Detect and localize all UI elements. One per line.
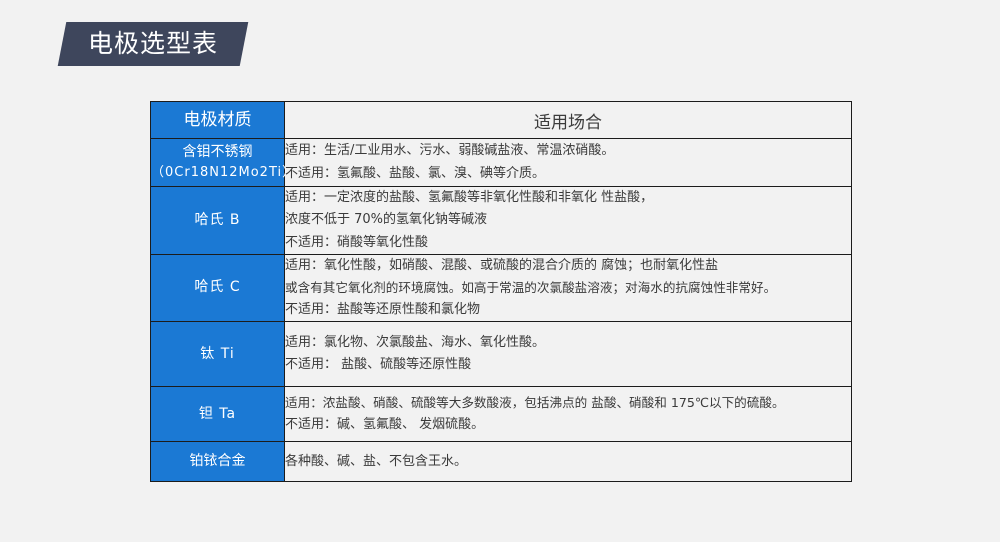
material-name: 含钼不锈钢 <box>183 144 253 160</box>
material-grade: （0Cr18N12Mo2Ti） <box>151 163 284 183</box>
application-line: 适用：浓盐酸、硝酸、硫酸等大多数酸液，包括沸点的 盐酸、硝酸和 175℃以下的硫… <box>285 392 851 414</box>
table-header-row: 电极材质 适用场合 <box>151 102 852 139</box>
material-name: 哈氏 B <box>194 212 240 228</box>
application-line: 浓度不低于 70%的氢氧化钠等碱液 <box>285 209 851 231</box>
cell-application: 适用：浓盐酸、硝酸、硫酸等大多数酸液，包括沸点的 盐酸、硝酸和 175℃以下的硫… <box>285 387 852 442</box>
table-row: 含钼不锈钢 （0Cr18N12Mo2Ti） 适用：生活/工业用水、污水、弱酸碱盐… <box>151 139 852 187</box>
application-line: 适用：一定浓度的盐酸、氢氟酸等非氧化性酸和非氧化 性盐酸， <box>285 187 851 209</box>
cell-material: 哈氏 B <box>151 187 285 255</box>
material-name: 钛 Ti <box>200 346 234 362</box>
application-line: 不适用： 盐酸、硫酸等还原性酸 <box>285 354 851 376</box>
application-line: 适用：氯化物、次氯酸盐、海水、氧化性酸。 <box>285 332 851 354</box>
application-line: 适用：氧化性酸，如硝酸、混酸、或硫酸的混合介质的 腐蚀；也耐氧化性盐 <box>285 255 851 277</box>
header-material: 电极材质 <box>151 102 285 139</box>
header-application: 适用场合 <box>285 102 852 139</box>
table-row: 铂铱合金 各种酸、碱、盐、不包含王水。 <box>151 442 852 482</box>
page-title-banner: 电极选型表 <box>62 22 244 66</box>
cell-application: 适用：生活/工业用水、污水、弱酸碱盐液、常温浓硝酸。 不适用：氢氟酸、盐酸、氯、… <box>285 139 852 187</box>
cell-material: 含钼不锈钢 （0Cr18N12Mo2Ti） <box>151 139 285 187</box>
table-row: 哈氏 C 适用：氧化性酸，如硝酸、混酸、或硫酸的混合介质的 腐蚀；也耐氧化性盐 … <box>151 255 852 322</box>
cell-application: 各种酸、碱、盐、不包含王水。 <box>285 442 852 482</box>
material-name: 铂铱合金 <box>190 453 246 469</box>
electrode-selection-table-wrap: 电极材质 适用场合 含钼不锈钢 （0Cr18N12Mo2Ti） 适用：生活/工业… <box>150 101 852 482</box>
material-name: 钽 Ta <box>199 406 236 422</box>
application-line: 不适用：氢氟酸、盐酸、氯、溴、碘等介质。 <box>285 163 851 185</box>
cell-material: 铂铱合金 <box>151 442 285 482</box>
cell-application: 适用：氯化物、次氯酸盐、海水、氧化性酸。 不适用： 盐酸、硫酸等还原性酸 <box>285 322 852 387</box>
cell-application: 适用：氧化性酸，如硝酸、混酸、或硫酸的混合介质的 腐蚀；也耐氧化性盐 或含有其它… <box>285 255 852 322</box>
table-row: 钛 Ti 适用：氯化物、次氯酸盐、海水、氧化性酸。 不适用： 盐酸、硫酸等还原性… <box>151 322 852 387</box>
cell-material: 钛 Ti <box>151 322 285 387</box>
application-line: 或含有其它氧化剂的环境腐蚀。如高于常温的次氯酸盐溶液；对海水的抗腐蚀性非常好。 <box>285 277 851 299</box>
table-row: 哈氏 B 适用：一定浓度的盐酸、氢氟酸等非氧化性酸和非氧化 性盐酸， 浓度不低于… <box>151 187 852 255</box>
table-row: 钽 Ta 适用：浓盐酸、硝酸、硫酸等大多数酸液，包括沸点的 盐酸、硝酸和 175… <box>151 387 852 442</box>
application-line: 各种酸、碱、盐、不包含王水。 <box>285 451 851 473</box>
cell-application: 适用：一定浓度的盐酸、氢氟酸等非氧化性酸和非氧化 性盐酸， 浓度不低于 70%的… <box>285 187 852 255</box>
electrode-selection-table: 电极材质 适用场合 含钼不锈钢 （0Cr18N12Mo2Ti） 适用：生活/工业… <box>150 101 852 482</box>
title-banner-shape: 电极选型表 <box>58 22 249 66</box>
page-title: 电极选型表 <box>88 22 218 66</box>
cell-material: 钽 Ta <box>151 387 285 442</box>
application-line: 适用：生活/工业用水、污水、弱酸碱盐液、常温浓硝酸。 <box>285 140 851 162</box>
material-name: 哈氏 C <box>194 279 240 295</box>
application-line: 不适用：盐酸等还原性酸和氯化物 <box>285 299 851 321</box>
cell-material: 哈氏 C <box>151 255 285 322</box>
application-line: 不适用：碱、氢氟酸、 发烟硫酸。 <box>285 414 851 436</box>
application-line: 不适用：硝酸等氧化性酸 <box>285 232 851 254</box>
